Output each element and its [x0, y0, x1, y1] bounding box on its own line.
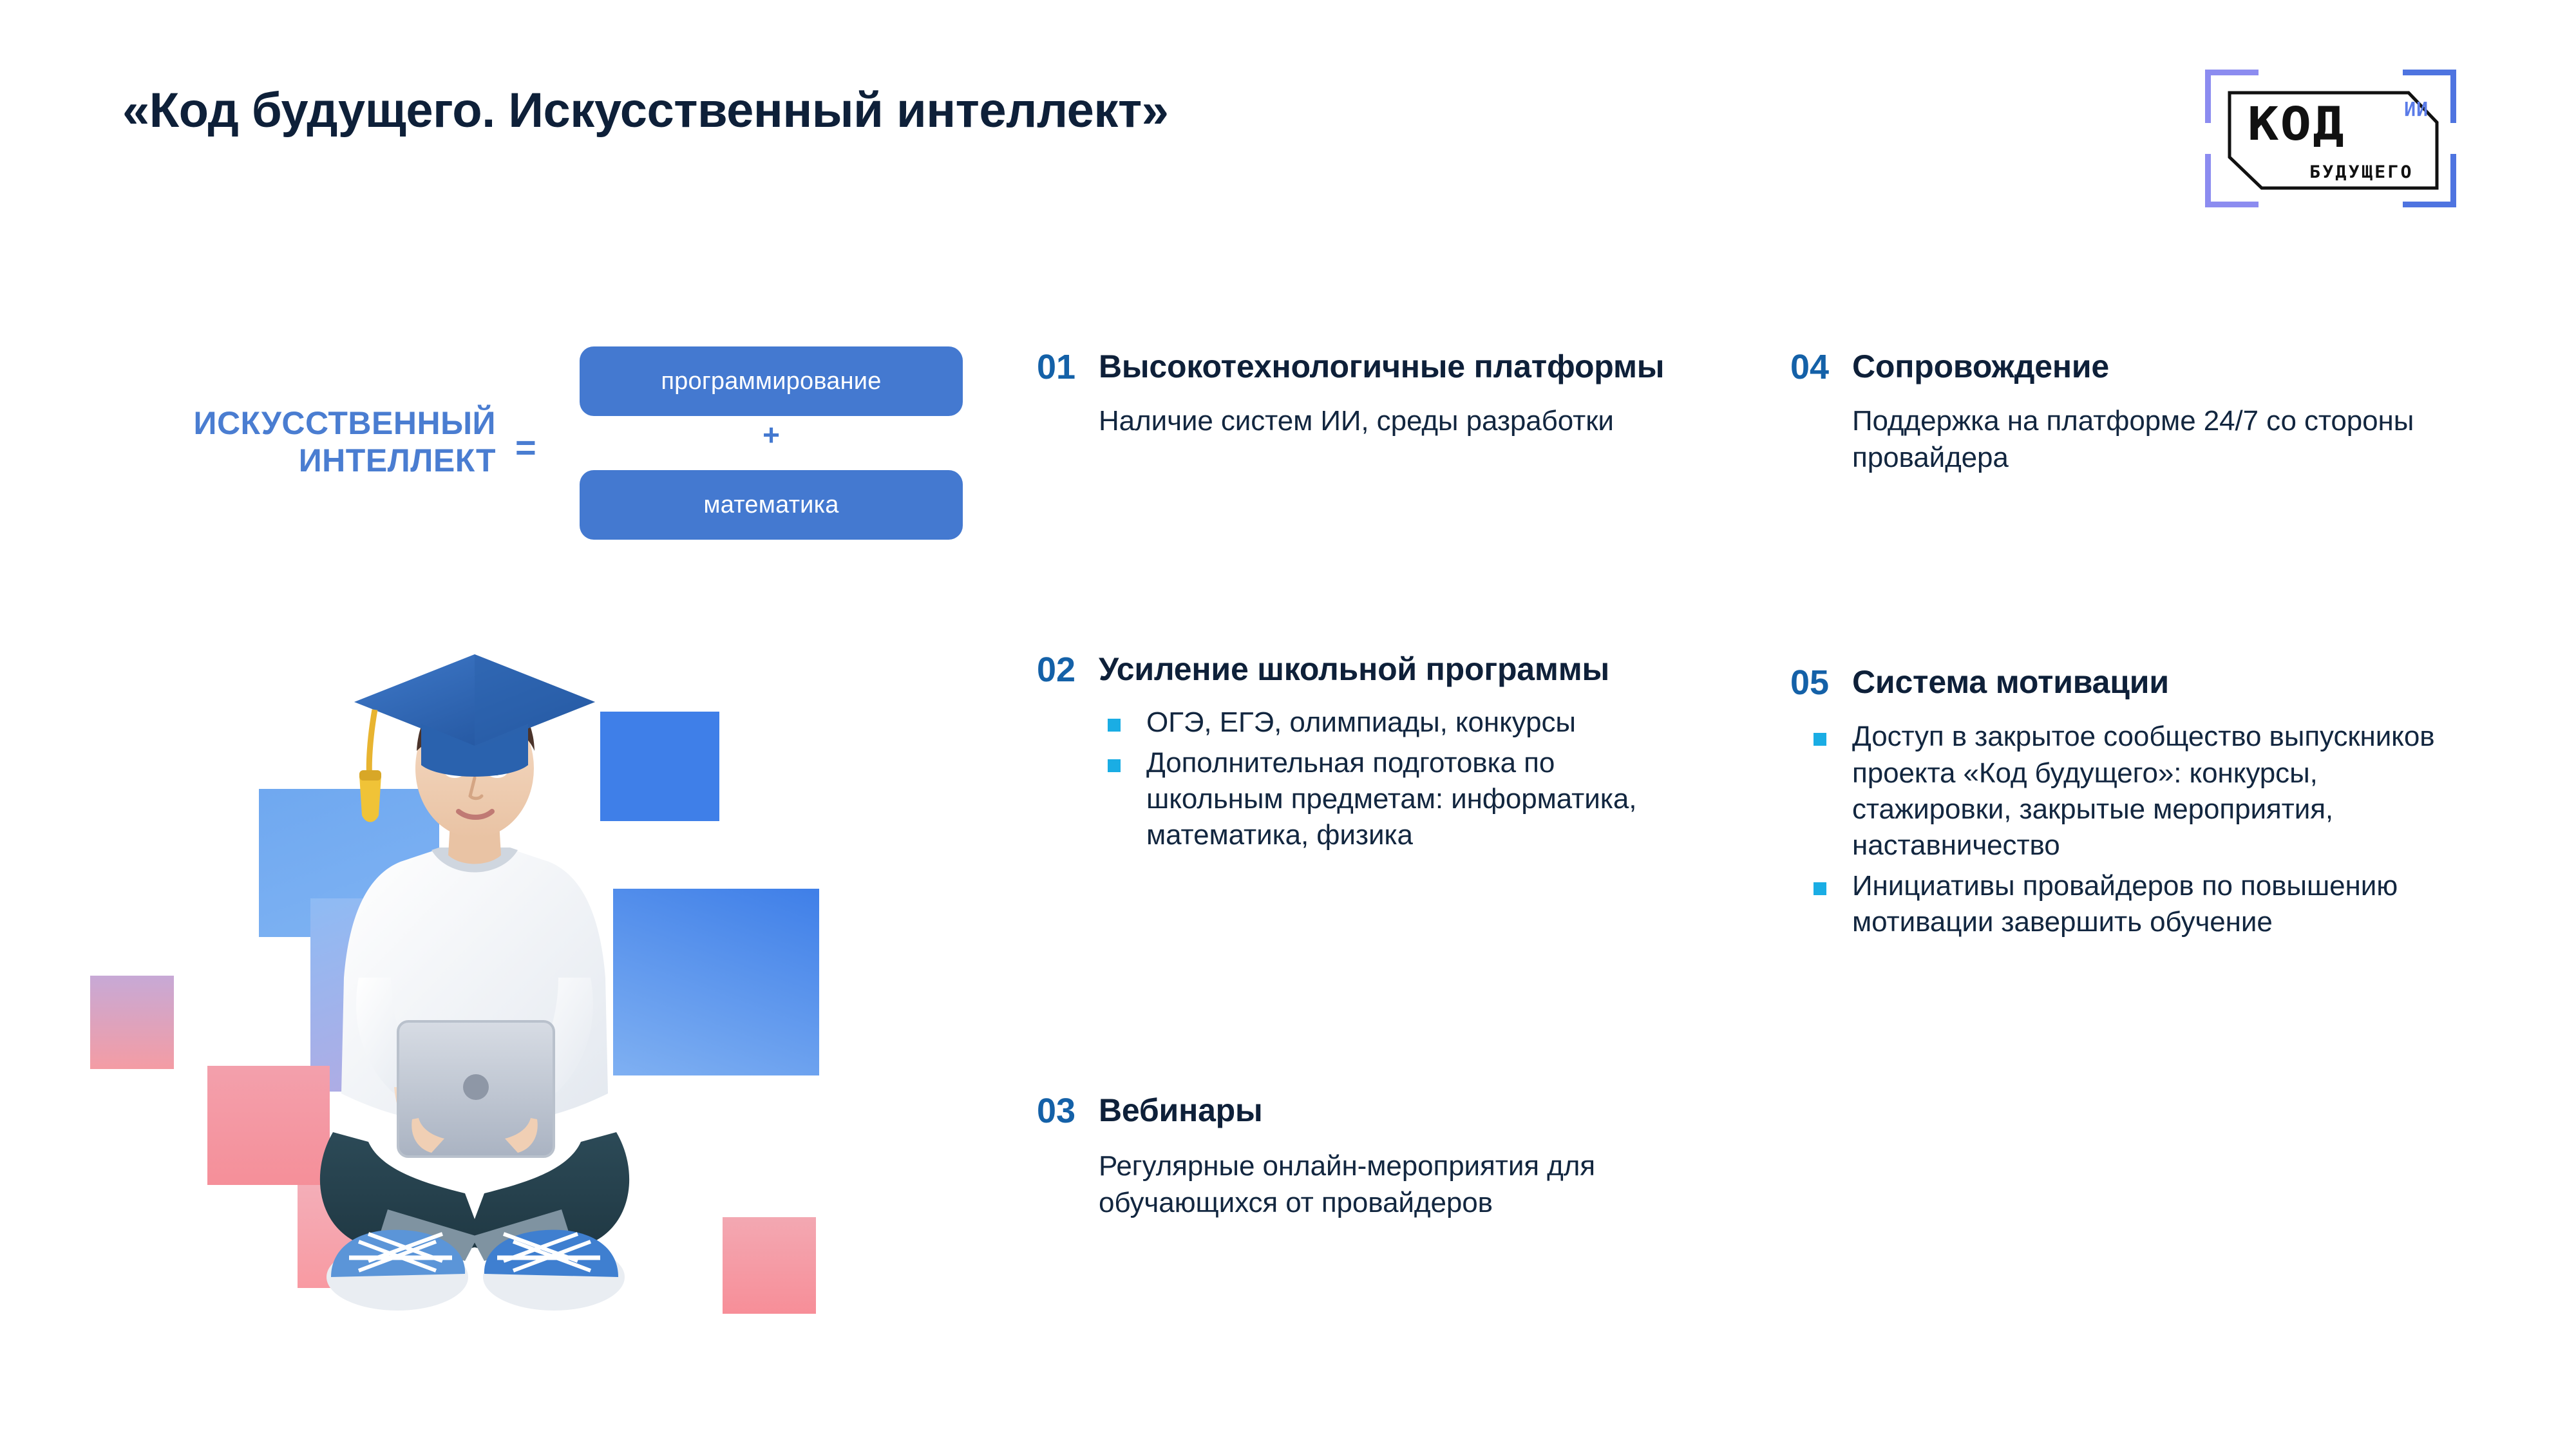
feature-item-05-head: 05 Система мотивации	[1790, 663, 2473, 702]
feature-item-03: 03 Вебинары Регулярные онлайн-мероприяти…	[1037, 1092, 1745, 1221]
decor-square-5	[90, 976, 174, 1069]
formula-box-mathematics: математика	[580, 470, 963, 540]
formula-label-line1: ИСКУССТВЕННЫЙ	[97, 404, 496, 442]
list-item: ОГЭ, ЕГЭ, олимпиады, конкурсы	[1099, 705, 1681, 741]
student-with-laptop-illustration	[59, 631, 819, 1325]
formula-label-line2: ИНТЕЛЛЕКТ	[97, 442, 496, 479]
feature-item-04-number: 04	[1790, 348, 1852, 386]
bullet-square-icon	[1108, 719, 1121, 732]
feature-item-05-bullets: Доступ в закрытое сообщество выпускников…	[1790, 719, 2473, 940]
feature-item-05-number: 05	[1790, 663, 1852, 702]
formula-plus-sign: +	[580, 417, 963, 452]
feature-item-03-head: 03 Вебинары	[1037, 1092, 1745, 1130]
feature-item-04: 04 Сопровождение Поддержка на платформе …	[1790, 348, 2467, 476]
formula-equals-sign: =	[515, 426, 536, 468]
feature-item-03-title: Вебинары	[1099, 1092, 1263, 1129]
feature-item-04-description: Поддержка на платформе 24/7 со стороны п…	[1852, 403, 2467, 476]
formula-label: ИСКУССТВЕННЫЙ ИНТЕЛЛЕКТ	[97, 404, 496, 479]
brand-logo[interactable]: КОД БУДУЩЕГО ИИ	[2187, 46, 2465, 222]
student-figure	[272, 643, 677, 1325]
feature-item-01-description: Наличие систем ИИ, среды разработки	[1099, 403, 1765, 439]
feature-item-05: 05 Система мотивации Доступ в закрытое с…	[1790, 663, 2473, 944]
feature-item-03-description: Регулярные онлайн-мероприятия для обучаю…	[1099, 1148, 1745, 1221]
feature-item-01-number: 01	[1037, 348, 1099, 386]
logo-badge-ii: ИИ	[2403, 97, 2428, 119]
page-title: «Код будущего. Искусственный интеллект»	[122, 82, 1168, 138]
feature-item-02: 02 Усиление школьной программы ОГЭ, ЕГЭ,…	[1037, 650, 1681, 858]
bullet-square-icon	[1108, 759, 1121, 772]
feature-item-01-head: 01 Высокотехнологичные платформы	[1037, 348, 1765, 386]
feature-item-02-title: Усиление школьной программы	[1099, 650, 1609, 688]
list-item-text: Дополнительная подготовка по школьным пр…	[1146, 747, 1636, 851]
feature-item-04-title: Сопровождение	[1852, 348, 2109, 385]
feature-item-03-number: 03	[1037, 1092, 1099, 1130]
slide-root: «Код будущего. Искусственный интеллект» …	[0, 0, 2576, 1449]
bullet-square-icon	[1814, 882, 1826, 895]
feature-item-02-head: 02 Усиление школьной программы	[1037, 650, 1681, 689]
list-item: Дополнительная подготовка по школьным пр…	[1099, 745, 1681, 854]
formula-box-programming: программирование	[580, 346, 963, 416]
feature-item-04-head: 04 Сопровождение	[1790, 348, 2467, 386]
feature-item-02-bullets: ОГЭ, ЕГЭ, олимпиады, конкурсы Дополнител…	[1099, 705, 1681, 853]
list-item-text: Инициативы провайдеров по повышению моти…	[1852, 870, 2398, 938]
decor-square-8	[723, 1217, 816, 1314]
list-item: Доступ в закрытое сообщество выпускников…	[1790, 719, 2473, 864]
feature-item-01-title: Высокотехнологичные платформы	[1099, 348, 1664, 385]
list-item-text: ОГЭ, ЕГЭ, олимпиады, конкурсы	[1146, 706, 1576, 738]
logo-word-sub: БУДУЩЕГО	[2309, 164, 2414, 181]
bullet-square-icon	[1814, 733, 1826, 746]
list-item: Инициативы провайдеров по повышению моти…	[1790, 868, 2473, 941]
list-item-text: Доступ в закрытое сообщество выпускников…	[1852, 721, 2434, 861]
feature-item-01: 01 Высокотехнологичные платформы Наличие…	[1037, 348, 1765, 440]
feature-item-02-number: 02	[1037, 650, 1099, 689]
feature-item-05-title: Система мотивации	[1852, 663, 2169, 701]
logo-word-main: КОД	[2248, 102, 2345, 147]
